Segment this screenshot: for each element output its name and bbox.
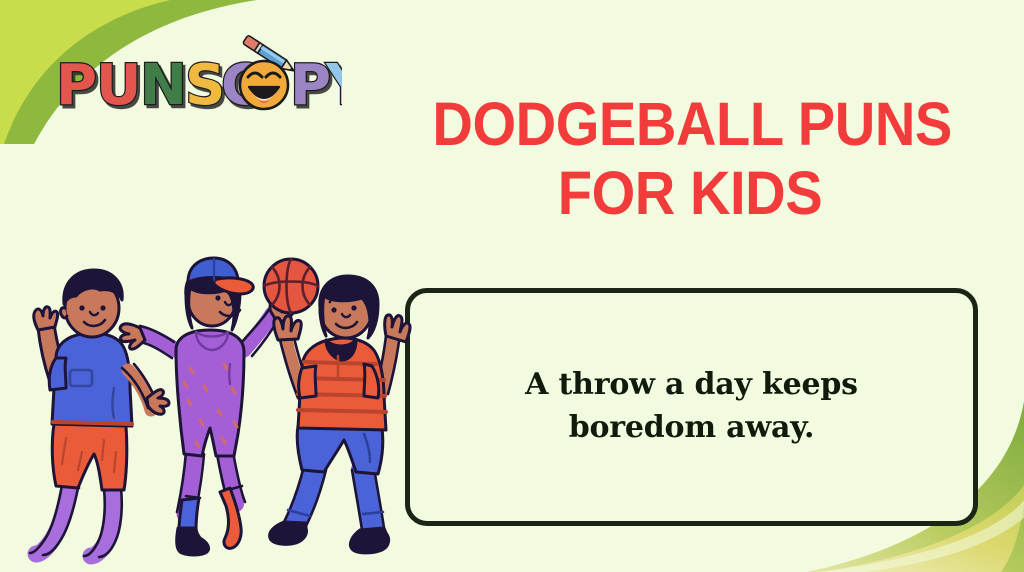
page-title: DODGEBALL PUNS FOR KIDS [410,96,970,223]
logo-letter-p1: P [56,53,97,118]
logo-letter-n: N [140,53,187,118]
poster-canvas: P U N S C P Y DODGEBALL PUNS FOR KIDS A … [0,0,1024,572]
page-title-line-1: DODGEBALL PUNS [432,96,947,154]
kid-blue-shirt [30,270,169,557]
logo-letter-p2: P [290,53,331,118]
logo-letter-y: Y [325,53,342,118]
pun-quote-text: A throw a day keeps boredom away. [449,364,933,449]
basketball-icon [264,259,318,313]
logo-letter-u: U [96,53,141,118]
three-kids-playing-with-ball-illustration [8,238,418,568]
punscopy-logo[interactable]: P U N S C P Y [52,34,342,118]
page-title-line-2: FOR KIDS [432,165,947,223]
pun-quote-card[interactable]: A throw a day keeps boredom away. [405,288,978,526]
laughing-face-emoji-icon [240,61,288,109]
logo-letter-s: S [185,53,225,118]
kid-striped-shirt [270,276,410,553]
